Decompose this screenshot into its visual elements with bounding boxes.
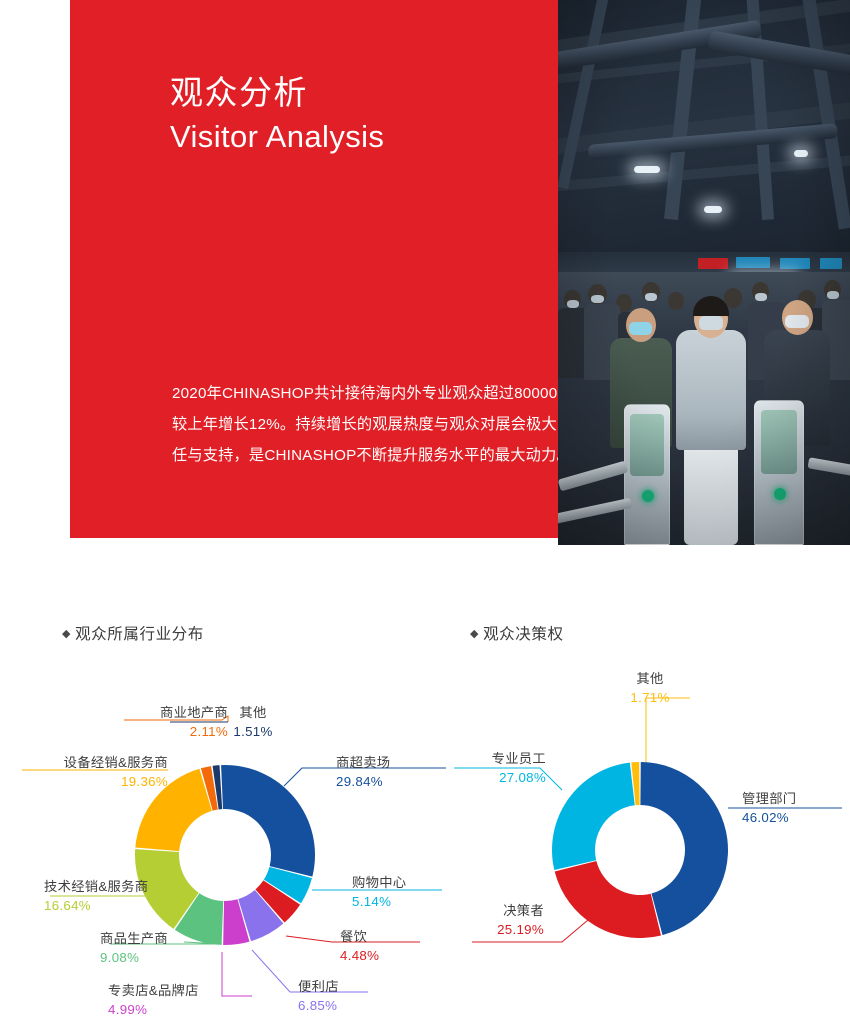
label-supermarket: 商超卖场 29.84% bbox=[336, 752, 448, 789]
label-shopping-mall: 购物中心 5.14% bbox=[352, 872, 448, 909]
label-management-dept: 管理部门 46.02% bbox=[742, 788, 846, 825]
photo-vignette bbox=[558, 0, 850, 545]
hero-red-banner: 观众分析 Visitor Analysis 2020年CHINASHOP共计接待… bbox=[70, 0, 558, 538]
bullet-icon: ◆ bbox=[470, 628, 479, 640]
section-heading-decision: ◆观众决策权 bbox=[470, 622, 564, 644]
donut-slices bbox=[135, 765, 315, 945]
label-decision-maker: 决策者 25.19% bbox=[460, 900, 544, 937]
donut-slice-2 bbox=[552, 763, 635, 870]
exhibition-photo bbox=[558, 0, 850, 545]
donut-slice-0 bbox=[221, 765, 315, 877]
hero-section: 观众分析 Visitor Analysis 2020年CHINASHOP共计接待… bbox=[0, 0, 850, 560]
charts-section: ◆观众所属行业分布 ◆观众决策权 设备经销&服务商 19.36% 商业地产商 2… bbox=[0, 560, 850, 1035]
label-other-industry: 其他 1.51% bbox=[222, 702, 284, 739]
hero-paragraph: 2020年CHINASHOP共计接待海内外专业观众超过80000人，较上年增长1… bbox=[172, 378, 592, 471]
section-heading-industry: ◆观众所属行业分布 bbox=[62, 622, 204, 644]
donut-slices bbox=[552, 762, 728, 938]
decision-authority-chart: 其他 1.71% 专业员工 27.08% 管理部门 46.02% 决策者 25.… bbox=[450, 660, 850, 1035]
section-heading-decision-label: 观众决策权 bbox=[483, 626, 564, 643]
label-goods-manufacturer: 商品生产商 9.08% bbox=[100, 928, 228, 965]
bullet-icon: ◆ bbox=[62, 628, 71, 640]
label-equipment-dealer: 设备经销&服务商 19.36% bbox=[20, 752, 168, 789]
label-catering: 餐饮 4.48% bbox=[340, 926, 426, 963]
decision-donut-svg bbox=[450, 660, 850, 1035]
label-convenience-store: 便利店 6.85% bbox=[298, 976, 382, 1013]
label-brand-store: 专卖店&品牌店 4.99% bbox=[108, 980, 258, 1017]
label-other-decision: 其他 1.71% bbox=[610, 668, 690, 705]
page-title-english: Visitor Analysis bbox=[170, 118, 384, 157]
label-tech-dealer: 技术经销&服务商 16.64% bbox=[44, 876, 194, 913]
label-commercial-realestate: 商业地产商 2.11% bbox=[110, 702, 228, 739]
leader-line bbox=[646, 698, 690, 762]
label-professional-staff: 专业员工 27.08% bbox=[450, 748, 546, 785]
infographic-page: 观众分析 Visitor Analysis 2020年CHINASHOP共计接待… bbox=[0, 0, 850, 1035]
section-heading-industry-label: 观众所属行业分布 bbox=[75, 626, 204, 643]
page-title-chinese: 观众分析 bbox=[170, 72, 308, 113]
donut-slice-1 bbox=[555, 861, 661, 938]
industry-distribution-chart: 设备经销&服务商 19.36% 商业地产商 2.11% 其他 1.51% 商超卖… bbox=[0, 660, 450, 1035]
